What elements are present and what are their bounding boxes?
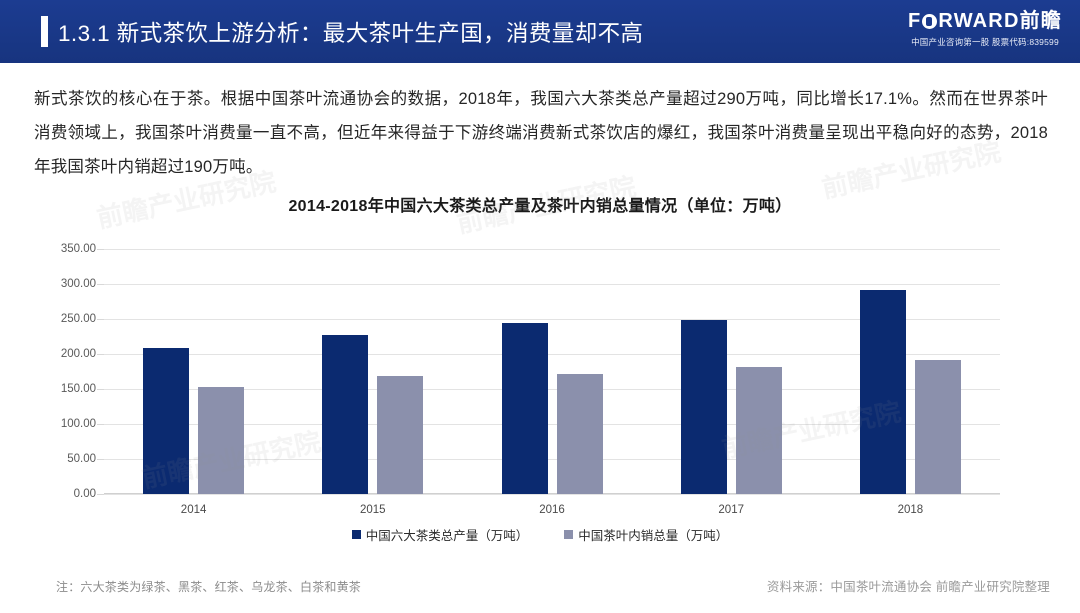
- chart-bar[interactable]: [198, 387, 244, 494]
- body-paragraph: 新式茶饮的核心在于茶。根据中国茶叶流通协会的数据，2018年，我国六大茶类总产量…: [34, 82, 1048, 184]
- logo-wordmark-rest: RWARD前瞻: [938, 10, 1062, 32]
- chart-bar-group: [283, 249, 462, 494]
- logo-o-icon: [922, 14, 937, 29]
- legend-label: 中国茶叶内销总量（万吨）: [578, 525, 728, 544]
- chart-bar-group: [821, 249, 1000, 494]
- logo-letter-f: F: [908, 10, 921, 32]
- chart-bar[interactable]: [915, 360, 961, 494]
- bar-pair: [821, 249, 1000, 494]
- gridline: [104, 494, 1000, 495]
- legend-swatch: [352, 530, 361, 539]
- chart-bar-group: [104, 249, 283, 494]
- bar-pair: [462, 249, 641, 494]
- chart-bar[interactable]: [502, 323, 548, 495]
- chart-bar-group: [462, 249, 641, 494]
- chart-bar[interactable]: [143, 348, 189, 494]
- page-title: 1.3.1 新式茶饮上游分析：最大茶叶生产国，消费量却不高: [58, 16, 643, 48]
- logo-wordmark: FRWARD前瞻: [908, 11, 1062, 32]
- y-axis-tick-label: 150.00: [61, 383, 96, 395]
- chart-bar[interactable]: [860, 290, 906, 494]
- chart-x-axis-labels: 20142015201620172018: [104, 504, 1000, 516]
- logo-subtitle: 中国产业咨询第一股 股票代码:839599: [908, 36, 1062, 48]
- legend-swatch: [564, 530, 573, 539]
- chart-bar[interactable]: [322, 335, 368, 494]
- y-axis-tick-label: 200.00: [61, 348, 96, 360]
- y-axis-tick-label: 50.00: [67, 453, 96, 465]
- chart-source: 资料来源：中国茶叶流通协会 前瞻产业研究院整理: [767, 576, 1050, 595]
- y-axis-tick-label: 350.00: [61, 243, 96, 255]
- bar-pair: [283, 249, 462, 494]
- y-tick-mark: [97, 459, 104, 460]
- y-tick-mark: [97, 389, 104, 390]
- legend-item[interactable]: 中国茶叶内销总量（万吨）: [564, 525, 728, 544]
- y-axis-tick-label: 100.00: [61, 418, 96, 430]
- chart-bar[interactable]: [377, 376, 423, 494]
- x-axis-tick-label: 2017: [642, 504, 821, 516]
- chart-bar[interactable]: [557, 374, 603, 494]
- forward-logo: FRWARD前瞻 中国产业咨询第一股 股票代码:839599: [908, 11, 1062, 48]
- page-header: 1.3.1 新式茶饮上游分析：最大茶叶生产国，消费量却不高 FRWARD前瞻 中…: [0, 0, 1080, 63]
- y-tick-mark: [97, 494, 104, 495]
- chart-bar[interactable]: [736, 367, 782, 494]
- y-axis-tick-label: 250.00: [61, 313, 96, 325]
- chart-bar-group: [642, 249, 821, 494]
- y-tick-mark: [97, 249, 104, 250]
- x-axis-tick-label: 2015: [283, 504, 462, 516]
- y-tick-mark: [97, 319, 104, 320]
- x-axis-tick-label: 2016: [462, 504, 641, 516]
- y-axis-tick-label: 0.00: [74, 488, 96, 500]
- chart-bar-groups: [104, 249, 1000, 494]
- chart-bar[interactable]: [681, 320, 727, 494]
- chart-container: 2014-2018年中国六大茶类总产量及茶叶内销总量情况（单位：万吨） 350.…: [0, 192, 1080, 562]
- legend-item[interactable]: 中国六大茶类总产量（万吨）: [352, 525, 529, 544]
- chart-legend: 中国六大茶类总产量（万吨）中国茶叶内销总量（万吨）: [0, 525, 1080, 544]
- y-axis-tick-label: 300.00: [61, 278, 96, 290]
- chart-footnote: 注：六大茶类为绿茶、黑茶、红茶、乌龙茶、白茶和黄茶: [56, 578, 361, 595]
- y-tick-mark: [97, 354, 104, 355]
- x-axis-tick-label: 2014: [104, 504, 283, 516]
- bar-pair: [642, 249, 821, 494]
- y-tick-mark: [97, 284, 104, 285]
- y-tick-mark: [97, 424, 104, 425]
- header-accent-bar: [41, 16, 48, 47]
- x-axis-tick-label: 2018: [821, 504, 1000, 516]
- legend-label: 中国六大茶类总产量（万吨）: [366, 525, 529, 544]
- chart-plot-area: 350.00300.00250.00200.00150.00100.0050.0…: [104, 249, 1000, 494]
- chart-title: 2014-2018年中国六大茶类总产量及茶叶内销总量情况（单位：万吨）: [0, 192, 1080, 216]
- bar-pair: [104, 249, 283, 494]
